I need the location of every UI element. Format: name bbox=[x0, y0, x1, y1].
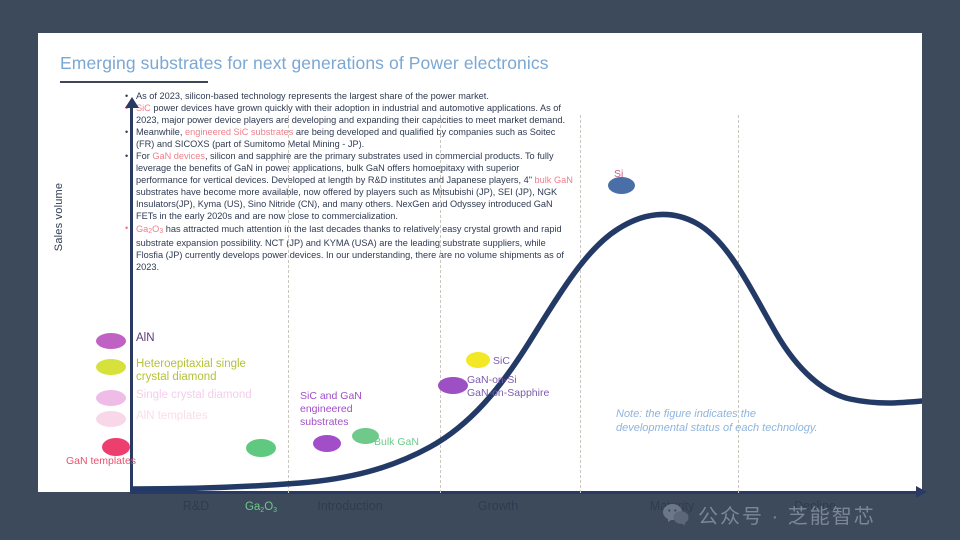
x-axis-line bbox=[130, 491, 920, 494]
curve-annotation: GaN-on-Sapphire bbox=[467, 387, 549, 400]
curve-annotation: Si bbox=[614, 168, 623, 181]
title-underline bbox=[60, 81, 208, 83]
curve-marker bbox=[102, 438, 130, 456]
phase-divider bbox=[738, 115, 740, 493]
bullet-item: Ga2O3 has attracted much attention in th… bbox=[123, 223, 573, 273]
curve-marker bbox=[438, 377, 468, 394]
curve-annotation: engineered bbox=[300, 403, 353, 416]
legend-label: AlN templates bbox=[136, 410, 208, 423]
curve-annotation: GaN-on-Si bbox=[467, 374, 517, 387]
y-axis-label: Sales volume bbox=[53, 172, 65, 262]
curve-marker bbox=[466, 352, 490, 368]
curve-annotation: SiC bbox=[493, 355, 510, 368]
legend-swatch bbox=[96, 411, 126, 427]
curve-annotation: Bulk GaN bbox=[374, 436, 419, 449]
phase-divider bbox=[288, 115, 290, 493]
legend-swatch bbox=[96, 333, 126, 349]
phase-label-r-d: R&D bbox=[183, 499, 209, 513]
legend-label: Single crystal diamond bbox=[136, 389, 252, 402]
y-axis-line bbox=[130, 105, 133, 493]
legend-label: AlN bbox=[136, 332, 155, 345]
phase-divider bbox=[440, 115, 442, 493]
legend-item: AlN bbox=[96, 333, 126, 349]
page-title: Emerging substrates for next generations… bbox=[60, 53, 549, 74]
legend-item: AlN templates bbox=[96, 411, 126, 427]
phase-divider bbox=[580, 115, 582, 493]
watermark: 公众号 · 芝能智芯 bbox=[663, 500, 876, 529]
bullet-item: Meanwhile, engineered SiC substrates are… bbox=[123, 126, 573, 150]
legend-item: Heteroepitaxial singlecrystal diamond bbox=[96, 359, 126, 375]
slide-card: Emerging substrates for next generations… bbox=[38, 33, 922, 492]
bullet-item: SiC power devices have grown quickly wit… bbox=[123, 102, 573, 126]
x-axis-arrow-icon bbox=[916, 486, 927, 498]
legend-item: Single crystal diamond bbox=[96, 390, 126, 406]
curve-annotation: GaN templates bbox=[66, 455, 136, 468]
curve-annotation: SiC and GaN bbox=[300, 390, 362, 403]
legend-label: Heteroepitaxial singlecrystal diamond bbox=[136, 358, 246, 384]
phase-label-introduction: Introduction bbox=[317, 499, 382, 513]
phase-label-growth: Growth bbox=[478, 499, 518, 513]
curve-annotation: substrates bbox=[300, 416, 348, 429]
legend-swatch bbox=[96, 359, 126, 375]
legend-swatch bbox=[96, 390, 126, 406]
curve-marker bbox=[313, 435, 341, 452]
watermark-text: 公众号 · 芝能智芯 bbox=[698, 500, 876, 529]
bullet-item: For GaN devices, silicon and sapphire ar… bbox=[123, 150, 573, 222]
curve-marker bbox=[246, 439, 276, 457]
note-line: Note: the figure indicates the bbox=[616, 407, 818, 421]
bullet-item: As of 2023, silicon-based technology rep… bbox=[123, 90, 573, 102]
figure-note: Note: the figure indicates thedevelopmen… bbox=[616, 407, 818, 435]
note-line: developmental status of each technology. bbox=[616, 421, 818, 435]
phase-label-ga2o3: Ga2O3 bbox=[245, 501, 277, 513]
bullet-list: As of 2023, silicon-based technology rep… bbox=[123, 90, 573, 273]
wechat-icon bbox=[663, 504, 689, 526]
